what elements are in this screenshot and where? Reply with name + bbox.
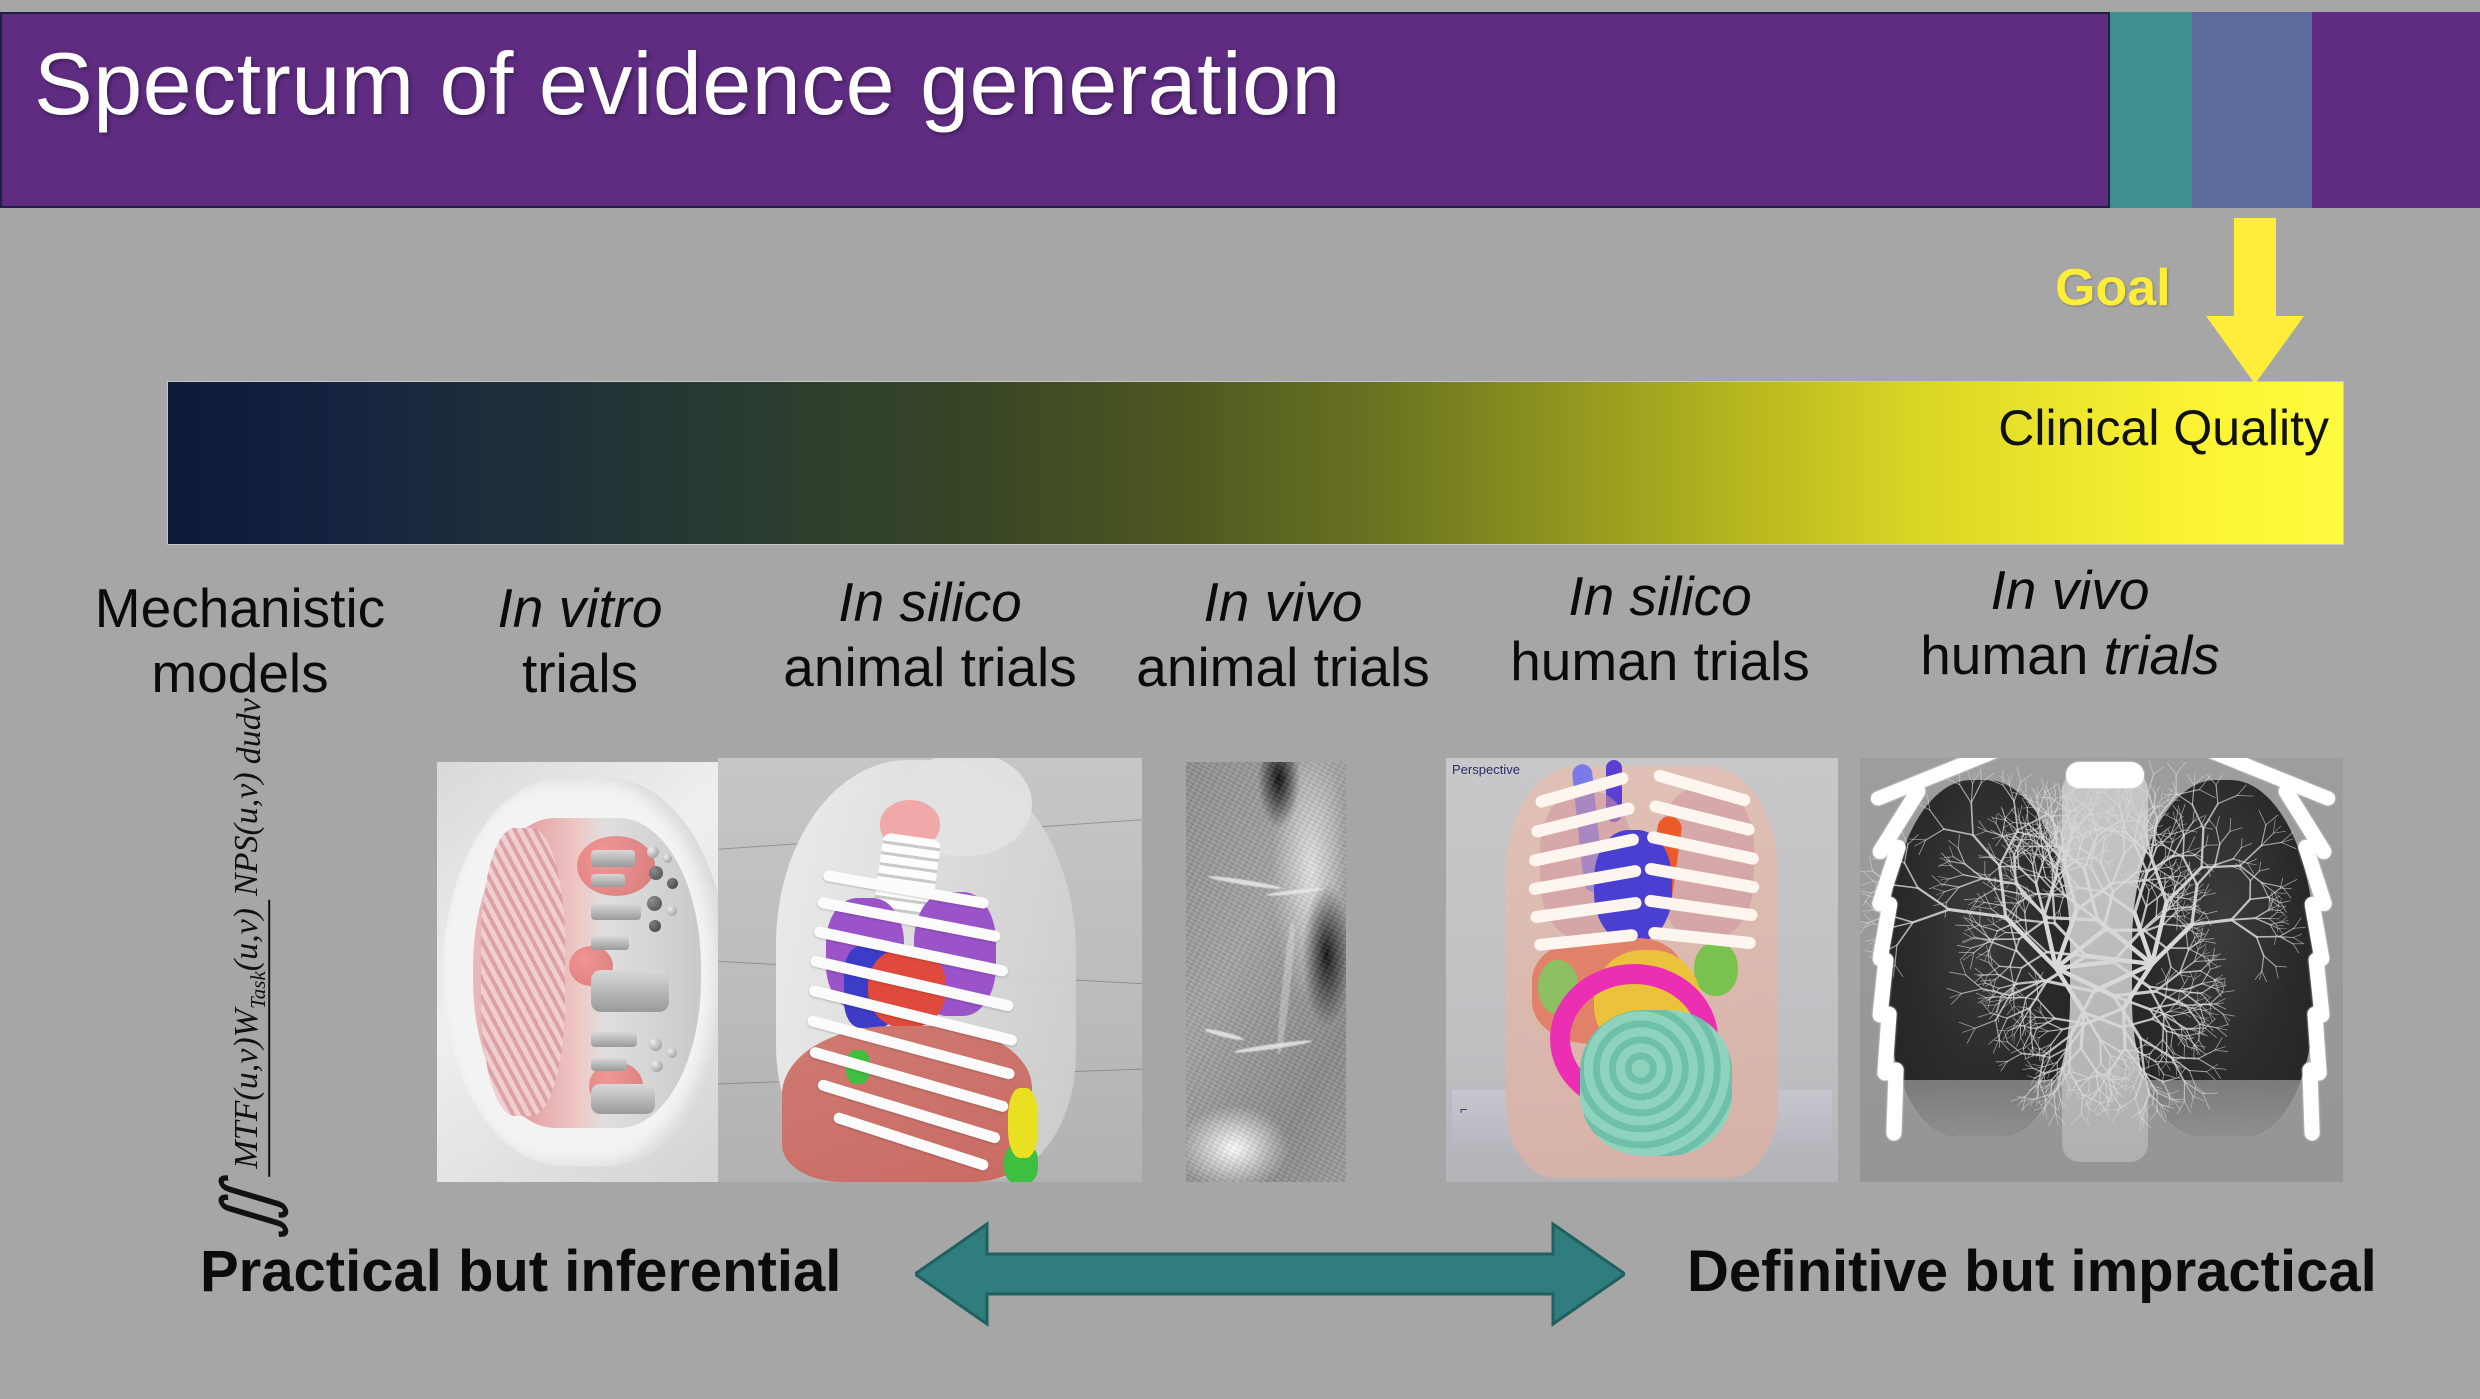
stage-label-mechanistic-models: Mechanistic models xyxy=(60,576,420,706)
stage-line2: human trials xyxy=(1870,623,2270,688)
stage-line1: In vitro xyxy=(430,576,730,641)
stage-line2: animal trials xyxy=(730,635,1130,700)
clinical-quality-line1: Clinical xyxy=(1998,400,2159,456)
image-in-silico-human-phantom: Perspective ⌐ xyxy=(1446,758,1838,1182)
stage-line1: In silico xyxy=(730,570,1130,635)
phantom-lung-texture xyxy=(481,828,565,1116)
goal-label: Goal xyxy=(2055,258,2171,318)
stage-line2: trials xyxy=(430,641,730,706)
stage-line1: Mechanistic xyxy=(60,576,420,641)
perspective-overlay-label: Perspective xyxy=(1452,762,1520,777)
stage-line2: models xyxy=(60,641,420,706)
header-accent-purple xyxy=(2312,12,2480,208)
human-small-bowel xyxy=(1580,1010,1732,1156)
human-ribcage xyxy=(1528,780,1756,960)
phantom-interior xyxy=(473,818,701,1128)
page-title: Spectrum of evidence generation xyxy=(34,40,1341,128)
radiograph-noise xyxy=(1186,762,1346,1182)
clinical-quality-label: Clinical Quality xyxy=(1998,400,2329,457)
arrow-down-icon xyxy=(2200,218,2310,388)
stage-line2: animal trials xyxy=(1098,635,1468,700)
mechanistic-model-formula: ∬ MTF(u,v)WTask(u,v) NPS(u,v) dudv xyxy=(100,760,400,1190)
tradeoff-left-label: Practical but inferential xyxy=(200,1238,841,1305)
header-band: Spectrum of evidence generation xyxy=(0,12,2480,208)
double-headed-arrow-icon xyxy=(915,1214,1625,1334)
double-integral-icon: ∬ xyxy=(221,1177,279,1240)
stage-label-in-vivo-human-trials: In vivo human trials xyxy=(1870,558,2270,688)
phantom-shell xyxy=(443,778,728,1166)
image-in-vitro-phantom xyxy=(437,762,741,1182)
header-accent-slate xyxy=(2192,12,2312,208)
slide-canvas: Spectrum of evidence generation Goal Cli… xyxy=(0,0,2480,1399)
stage-label-in-silico-human-trials: In silico human trials xyxy=(1460,564,1860,694)
formula-numerator: MTF(u,v)WTask(u,v) xyxy=(229,900,271,1177)
stage-label-in-silico-animal-trials: In silico animal trials xyxy=(730,570,1130,700)
formula-expression: ∬ MTF(u,v)WTask(u,v) NPS(u,v) dudv xyxy=(221,754,279,1184)
header-accent-teal xyxy=(2110,12,2192,208)
evidence-spectrum-bar: Clinical Quality xyxy=(168,382,2343,544)
stage-line2: human trials xyxy=(1460,629,1860,694)
tradeoff-right-label: Definitive but impractical xyxy=(1687,1238,2377,1305)
animal-yellow-organ xyxy=(1008,1088,1038,1158)
stage-line1: In vivo xyxy=(1098,570,1468,635)
axis-gizmo-icon: ⌐ xyxy=(1460,1102,1468,1117)
formula-fraction: MTF(u,v)WTask(u,v) NPS(u,v) xyxy=(229,772,272,1176)
stage-line1: In silico xyxy=(1460,564,1860,629)
image-in-silico-animal-phantom xyxy=(718,758,1142,1182)
image-in-vivo-human-ct xyxy=(1860,758,2343,1182)
ct-vascular-tree xyxy=(1860,758,2343,1182)
phantom-rod-inserts xyxy=(589,844,697,1124)
stage-line1: In vivo xyxy=(1870,558,2270,623)
stage-label-in-vivo-animal-trials: In vivo animal trials xyxy=(1098,570,1468,700)
formula-differential: dudv xyxy=(231,698,269,772)
stage-label-in-vitro-trials: In vitro trials xyxy=(430,576,730,706)
clinical-quality-line2: Quality xyxy=(2173,400,2329,456)
formula-denominator: NPS(u,v) xyxy=(225,772,266,896)
image-in-vivo-animal-radiograph xyxy=(1186,762,1346,1182)
